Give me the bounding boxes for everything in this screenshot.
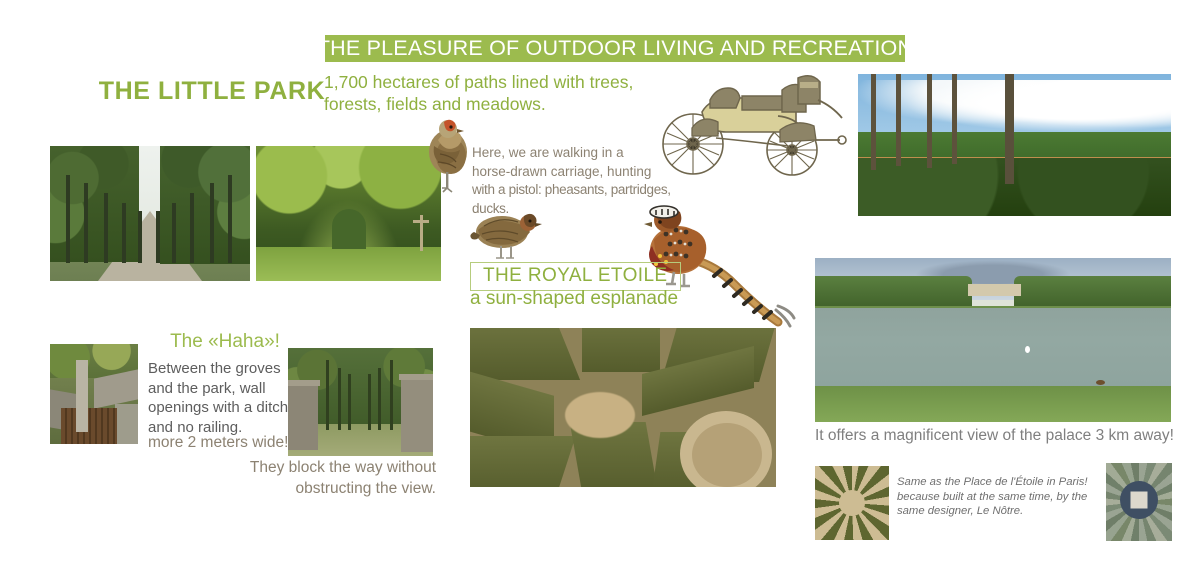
main-banner: THE PLEASURE OF OUTDOOR LIVING AND RECRE…	[325, 35, 905, 62]
block-view-note: They block the way without obstructing t…	[210, 457, 436, 499]
tree-trunk	[896, 74, 901, 166]
swan	[1025, 346, 1030, 353]
partridge-standing-illustration	[418, 112, 478, 194]
lawn-layer	[256, 247, 441, 281]
canal-water	[815, 308, 1171, 388]
left-pillar-cap	[288, 380, 320, 386]
right-pillar-cap	[399, 374, 433, 380]
tree-trunk	[348, 374, 351, 430]
foreground-brush	[858, 158, 1171, 216]
carriage-note-line-2: horse-drawn carriage, hunting	[472, 163, 707, 182]
distant-palace	[968, 284, 1021, 296]
tree-trunk	[156, 211, 160, 263]
banner-title: THE PLEASURE OF OUTDOOR LIVING AND RECRE…	[317, 36, 913, 61]
tree-trunk	[927, 74, 932, 168]
place-etoile-note-line-3: same designer, Le Nôtre.	[897, 504, 1107, 519]
haha-heading: The «Haha»!	[150, 331, 300, 353]
central-clearing	[565, 392, 635, 438]
place-etoile-paris-thumbnail	[1106, 463, 1172, 541]
haha-line-2: and the park, wall	[148, 379, 298, 399]
tree-trunk	[190, 193, 194, 263]
tree-trunk	[84, 183, 88, 263]
wall-pillar	[76, 360, 88, 432]
thumbnail-center	[839, 490, 865, 516]
royal-etoile-subtitle: a sun-shaped esplanade	[470, 288, 678, 310]
place-etoile-note: Same as the Place de l'Étoile in Paris! …	[897, 475, 1107, 519]
haha-description: Between the groves and the park, wall op…	[148, 359, 298, 437]
right-stone-pillar	[401, 378, 433, 452]
star-esplanade-thumbnail	[815, 466, 889, 540]
wooden-post-bar	[413, 220, 429, 223]
block-view-line-2: obstructing the view.	[210, 478, 436, 499]
tree-trunk	[104, 193, 108, 263]
tree-trunk	[66, 175, 70, 263]
near-grass-strip	[815, 386, 1171, 422]
intro-line-1: 1,700 hectares of paths lined with trees…	[324, 71, 654, 93]
arc-de-triomphe	[1131, 492, 1148, 509]
metal-grating	[61, 408, 117, 444]
haha-wall-ditch-photo	[50, 344, 138, 444]
tree-trunk	[138, 211, 142, 263]
green-tunnel-alley-photo	[256, 146, 441, 281]
royal-etoile-heading-box: THE ROYAL ETOILE	[470, 262, 681, 291]
tree-trunk	[871, 74, 876, 170]
tree-lined-gravel-path-photo	[50, 146, 250, 281]
canal-caption: It offers a magnificent view of the pala…	[815, 427, 1195, 445]
block-view-line-1: They block the way without	[210, 457, 436, 478]
royal-etoile-heading: THE ROYAL ETOILE	[483, 265, 668, 286]
field-through-trees-photo	[858, 74, 1171, 216]
tree-trunk	[952, 74, 957, 164]
tree-trunk	[172, 203, 176, 263]
tree-trunk	[378, 368, 381, 430]
poster-page: THE PLEASURE OF OUTDOOR LIVING AND RECRE…	[0, 0, 1200, 568]
tree-trunk	[122, 203, 126, 263]
left-hedge	[815, 276, 972, 310]
tree-trunk	[228, 175, 232, 263]
left-stone-pillar	[288, 384, 318, 450]
intro-line-2: forests, fields and meadows.	[324, 93, 654, 115]
place-etoile-note-line-1: Same as the Place de l'Étoile in Paris!	[897, 475, 1107, 490]
side-path	[115, 404, 138, 444]
tree-trunk	[390, 360, 393, 430]
hedged-grove	[582, 328, 660, 372]
place-etoile-note-line-2: because built at the same time, by the	[897, 490, 1107, 505]
tree-trunk	[368, 374, 371, 430]
tree-trunk	[210, 183, 214, 263]
right-hedge	[1014, 276, 1171, 310]
haha-line-1: Between the groves	[148, 359, 298, 379]
carriage-note-line-1: Here, we are walking in a	[472, 144, 707, 163]
star-esplanade-aerial-photo	[470, 328, 776, 487]
partridge-walking-illustration	[466, 206, 544, 262]
gate-pillars-alley-photo	[288, 348, 433, 456]
hedged-grove	[470, 328, 580, 380]
tunnel-opening	[332, 209, 366, 249]
tree-trunk	[1005, 74, 1014, 184]
curved-inner-lawn	[692, 423, 762, 487]
grand-canal-palace-photo	[815, 258, 1171, 422]
haha-line-3: openings with a ditch	[148, 398, 298, 418]
tree-trunk	[338, 368, 341, 430]
clouds-layer	[858, 80, 1171, 140]
tree-trunk	[326, 360, 329, 430]
intro-text: 1,700 hectares of paths lined with trees…	[324, 71, 654, 115]
hedged-grove	[470, 436, 576, 487]
page-title-little-park: THE LITTLE PARK	[92, 77, 332, 106]
